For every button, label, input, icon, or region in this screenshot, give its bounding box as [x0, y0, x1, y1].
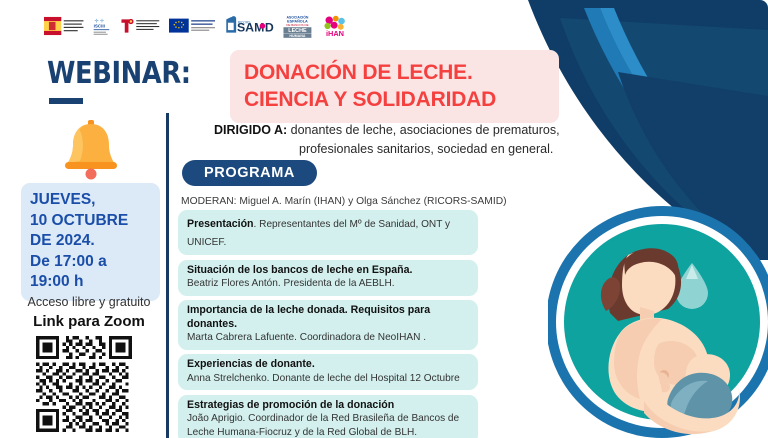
- aeblh-logo: ASOCIACIÓN ESPAÑOLA DE BANCOS DE LECHE H…: [281, 11, 314, 41]
- target-audience: DIRIGIDO A: donantes de leche, asociacio…: [214, 121, 604, 158]
- program-item: Situación de los bancos de leche en Espa…: [178, 260, 478, 296]
- programa-badge: PROGRAMA: [182, 160, 317, 186]
- target-audience-label: DIRIGIDO A:: [214, 123, 287, 137]
- target-audience-line-1: donantes de leche, asociaciones de prema…: [291, 123, 560, 137]
- target-audience-line-2: profesionales sanitarios, sociedad en ge…: [299, 140, 604, 159]
- program-item: Importancia de la leche donada. Requisit…: [178, 300, 478, 350]
- svg-text:iHAN: iHAN: [326, 28, 344, 37]
- webinar-heading: WEBINAR:: [47, 56, 191, 91]
- heading-underline: [49, 98, 83, 104]
- union-europea-logo: [169, 14, 217, 38]
- samid-logo: SAM D RICORS: [223, 12, 274, 40]
- zoom-qr-code[interactable]: [36, 336, 132, 432]
- svg-text:ISCIII: ISCIII: [94, 23, 105, 28]
- zoom-link-label: Link para Zoom: [14, 313, 164, 330]
- svg-text:HUMANA: HUMANA: [290, 34, 306, 38]
- title-line-2: CIENCIA Y SOLIDARIDAD: [244, 86, 547, 113]
- vertical-divider: [166, 113, 169, 438]
- program-item-heading: Importancia de la leche donada. Requisit…: [187, 304, 469, 331]
- program-item: Presentación. Representantes del Mº de S…: [178, 210, 478, 255]
- sponsor-logo-bar: ✛ ✛ ISCIII: [44, 9, 349, 42]
- isciii-logo: ✛ ✛ ISCIII: [92, 13, 112, 39]
- program-list: Presentación. Representantes del Mº de S…: [178, 210, 478, 438]
- webinar-poster: ✛ ✛ ISCIII: [0, 0, 768, 438]
- program-item-heading: Presentación: [187, 218, 254, 230]
- ihan-logo: iHAN: [321, 11, 349, 41]
- program-item-heading: Situación de los bancos de leche en Espa…: [187, 264, 469, 278]
- program-item-subtitle: Anna Strelchenko. Donante de leche del H…: [187, 372, 469, 386]
- date-block: JUEVES, 10 OCTUBRE DE 2024. De 17:00 a 1…: [21, 183, 160, 301]
- svg-text:RICORS: RICORS: [238, 20, 252, 24]
- breastfeeding-illustration: [548, 203, 768, 438]
- gobierno-espana-ministerio-logo: [44, 14, 85, 38]
- target-audience-row-1: DIRIGIDO A: donantes de leche, asociacio…: [214, 121, 604, 140]
- program-item: Experiencias de donante. Anna Strelchenk…: [178, 354, 478, 390]
- free-access-text: Acceso libre y gratuito: [14, 295, 164, 309]
- program-item-subtitle: João Aprigio. Coordinador de la Red Bras…: [187, 412, 469, 438]
- moderators-line: MODERAN: Miguel A. Marín (IHAN) y Olga S…: [181, 196, 507, 207]
- date-line-4: De 17:00 a: [30, 252, 151, 273]
- program-item-heading: Experiencias de donante.: [187, 358, 469, 372]
- program-item: Estrategias de promoción de la donación …: [178, 395, 478, 438]
- bell-icon: [62, 118, 120, 180]
- program-item-subtitle: Beatriz Flores Antón. Presidenta de la A…: [187, 277, 469, 291]
- svg-text:DE BANCOS DE: DE BANCOS DE: [287, 23, 309, 27]
- date-line-3: DE 2024.: [30, 231, 151, 252]
- date-line-2: 10 OCTUBRE: [30, 211, 151, 232]
- program-item-heading: Estrategias de promoción de la donación: [187, 399, 469, 413]
- title-line-1: DONACIÓN DE LECHE.: [244, 59, 547, 86]
- poster-title: DONACIÓN DE LECHE. CIENCIA Y SOLIDARIDAD: [230, 50, 559, 123]
- plan-recuperacion-logo: [119, 14, 162, 38]
- date-line-1: JUEVES,: [30, 190, 151, 211]
- date-line-5: 19:00 h: [30, 272, 151, 293]
- program-item-subtitle: Marta Cabrera Lafuente. Coordinadora de …: [187, 331, 469, 345]
- svg-text:D: D: [265, 20, 274, 34]
- svg-text:ASOCIACIÓN: ASOCIACIÓN: [287, 14, 309, 19]
